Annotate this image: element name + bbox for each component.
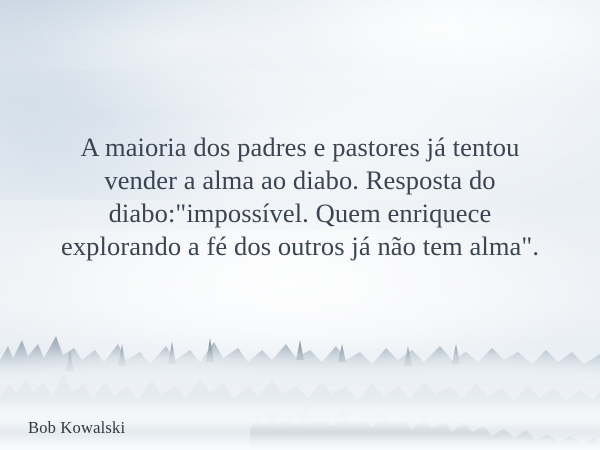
quote-card: A maioria dos padres e pastores já tento… (0, 0, 600, 450)
quote-text: A maioria dos padres e pastores já tento… (0, 131, 600, 263)
author-name: Bob Kowalski (28, 418, 125, 438)
